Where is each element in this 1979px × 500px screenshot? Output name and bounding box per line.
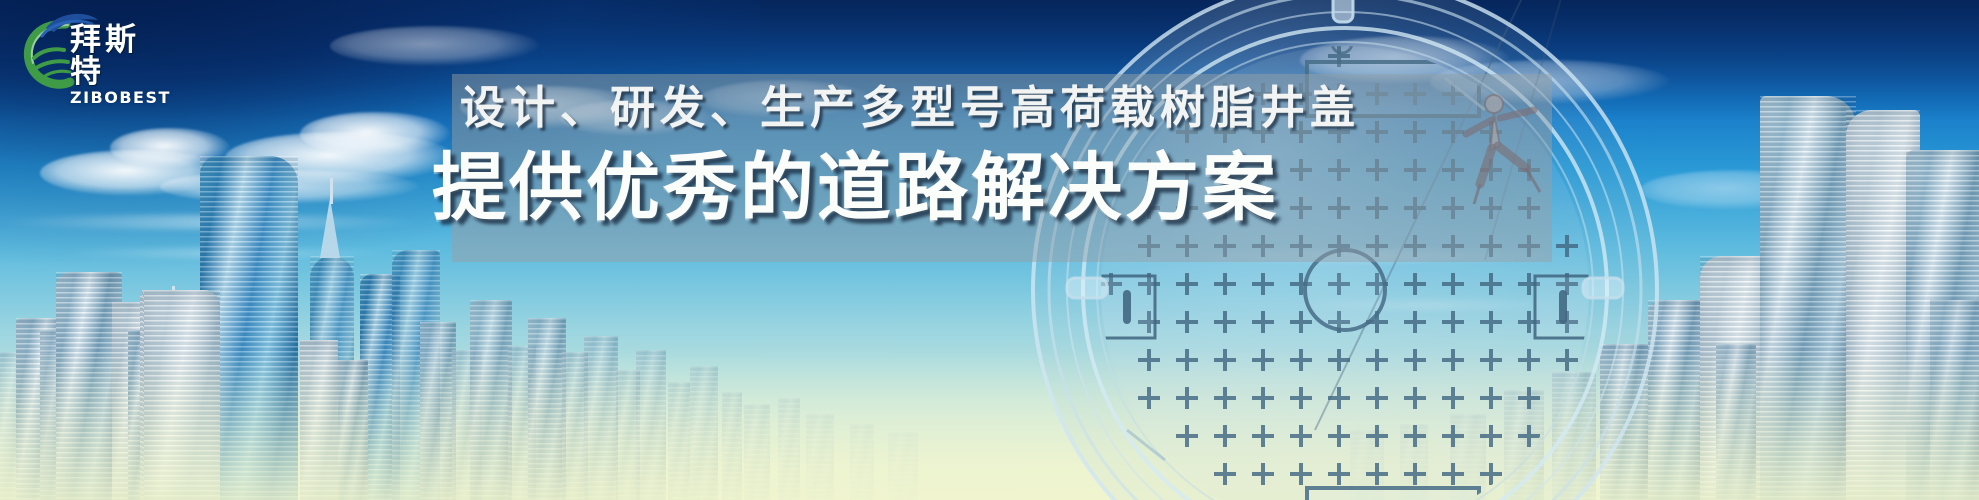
- headline-line-2: 提供优秀的道路解决方案: [432, 140, 1279, 236]
- logo-english-name: ZIBOBEST: [70, 89, 171, 107]
- logo-text-group: 拜斯特 ZIBOBEST: [70, 24, 171, 107]
- headline-group: 设计、研发、生产多型号高荷载树脂井盖 提供优秀的道路解决方案: [452, 74, 1592, 262]
- headline-line-1: 设计、研发、生产多型号高荷载树脂井盖: [460, 80, 1360, 136]
- hero-banner: 设计、研发、生产多型号高荷载树脂井盖 提供优秀的道路解决方案 拜斯特 ZIBOB…: [0, 0, 1979, 500]
- horizon-haze: [0, 350, 1979, 500]
- site-logo[interactable]: 拜斯特 ZIBOBEST: [12, 6, 162, 92]
- logo-chinese-name: 拜斯特: [70, 24, 171, 88]
